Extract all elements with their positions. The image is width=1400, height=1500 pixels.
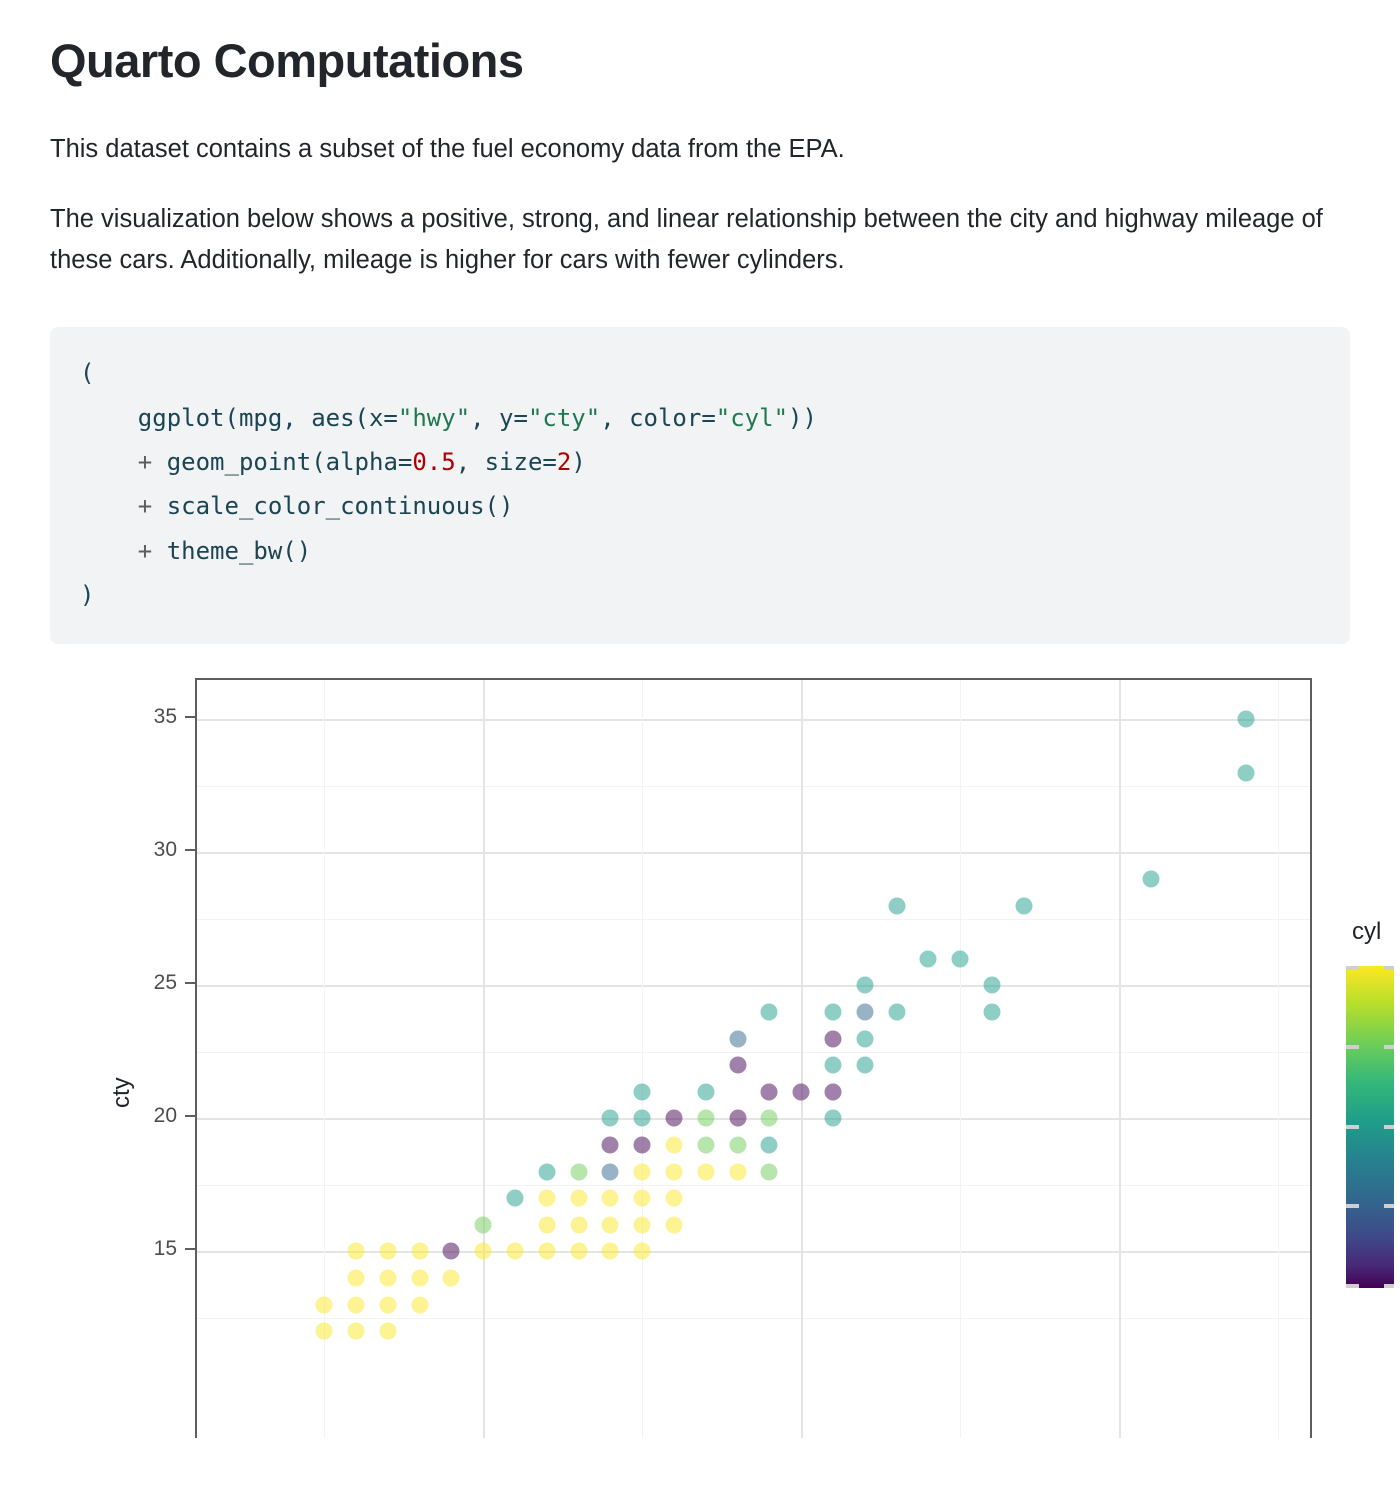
scatter-point <box>1238 711 1255 728</box>
gridline-major-horizontal <box>197 852 1310 854</box>
scatter-point <box>761 1163 778 1180</box>
gridline-major-vertical <box>483 680 485 1438</box>
gridline-major-vertical <box>801 680 803 1438</box>
scatter-point <box>729 1163 746 1180</box>
code-block: ( ggplot(mpg, aes(x="hwy", y="cty", colo… <box>50 327 1350 643</box>
gridline-minor-vertical <box>1278 680 1279 1438</box>
gridline-minor-horizontal <box>197 786 1310 787</box>
code-content[interactable]: ( ggplot(mpg, aes(x="hwy", y="cty", colo… <box>80 351 1320 617</box>
scatter-point <box>952 950 969 967</box>
scatter-point <box>570 1216 587 1233</box>
gridline-major-horizontal <box>197 719 1310 721</box>
scatter-point <box>602 1190 619 1207</box>
gridline-minor-vertical <box>960 680 961 1438</box>
scatter-point <box>856 1030 873 1047</box>
plot-panel <box>195 678 1312 1438</box>
scatter-point <box>602 1216 619 1233</box>
scatter-point <box>1015 897 1032 914</box>
scatter-point <box>697 1163 714 1180</box>
scatter-point <box>666 1137 683 1154</box>
scatter-point <box>666 1190 683 1207</box>
scatter-point <box>761 1110 778 1127</box>
scatter-point <box>316 1323 333 1340</box>
intro-paragraph: This dataset contains a subset of the fu… <box>50 129 1340 170</box>
scatter-point <box>602 1243 619 1260</box>
scatter-point <box>697 1137 714 1154</box>
scatter-point <box>379 1269 396 1286</box>
legend-tick-mark <box>1346 1125 1359 1129</box>
legend-tick-mark <box>1384 1204 1394 1208</box>
scatter-point <box>411 1269 428 1286</box>
y-axis-tick-mark <box>185 1248 195 1250</box>
y-axis-tick-mark <box>185 982 195 984</box>
description-paragraph: The visualization below shows a positive… <box>50 199 1340 282</box>
scatter-point <box>348 1269 365 1286</box>
gridline-minor-horizontal <box>197 919 1310 920</box>
legend-tick-mark <box>1384 966 1394 970</box>
legend-colorbar <box>1346 966 1394 1288</box>
legend-tick-mark <box>1384 1284 1394 1288</box>
legend-tick-mark <box>1384 1125 1394 1129</box>
scatter-point <box>348 1243 365 1260</box>
scatter-point <box>984 977 1001 994</box>
y-axis-tick-mark <box>185 1115 195 1117</box>
scatter-point <box>920 950 937 967</box>
scatter-point <box>729 1057 746 1074</box>
legend-tick-mark <box>1346 1204 1359 1208</box>
gridline-major-horizontal <box>197 1118 1310 1120</box>
scatter-point <box>825 1083 842 1100</box>
scatter-point <box>538 1190 555 1207</box>
scatter-point <box>697 1083 714 1100</box>
scatter-point <box>634 1137 651 1154</box>
scatter-point <box>856 977 873 994</box>
gridline-minor-vertical <box>642 680 643 1438</box>
scatter-point <box>729 1137 746 1154</box>
y-axis-tick-label: 30 <box>154 838 177 862</box>
scatter-point <box>761 1004 778 1021</box>
y-axis-title: cty <box>108 1077 136 1108</box>
scatter-point <box>888 897 905 914</box>
scatter-point <box>475 1243 492 1260</box>
y-axis-tick-label: 20 <box>154 1104 177 1128</box>
scatter-point <box>825 1030 842 1047</box>
scatter-point <box>697 1110 714 1127</box>
legend-tick-mark <box>1346 1284 1359 1288</box>
scatter-point <box>634 1163 651 1180</box>
gridline-minor-horizontal <box>197 1185 1310 1186</box>
scatter-point <box>602 1137 619 1154</box>
scatter-point <box>1238 764 1255 781</box>
legend-tick-mark <box>1384 1045 1394 1049</box>
scatter-point <box>1143 871 1160 888</box>
scatter-point <box>825 1004 842 1021</box>
scatter-point <box>761 1083 778 1100</box>
scatter-point <box>570 1190 587 1207</box>
y-axis-tick-label: 35 <box>154 705 177 729</box>
scatter-point <box>856 1057 873 1074</box>
scatter-point <box>570 1163 587 1180</box>
scatter-point <box>379 1243 396 1260</box>
scatter-point <box>888 1004 905 1021</box>
scatter-point <box>856 1004 873 1021</box>
legend: cyl <box>1340 918 1400 1288</box>
scatter-point <box>507 1243 524 1260</box>
legend-tick-mark <box>1346 1045 1359 1049</box>
scatter-point <box>538 1163 555 1180</box>
scatter-point <box>316 1296 333 1313</box>
y-axis-tick-mark <box>185 849 195 851</box>
scatter-point <box>348 1296 365 1313</box>
gridline-minor-horizontal <box>197 1052 1310 1053</box>
y-axis-tick-mark <box>185 716 195 718</box>
scatter-point <box>634 1216 651 1233</box>
gridline-major-horizontal <box>197 985 1310 987</box>
scatter-point <box>602 1163 619 1180</box>
scatter-point <box>443 1269 460 1286</box>
scatter-point <box>348 1323 365 1340</box>
scatter-point <box>443 1243 460 1260</box>
y-axis-tick-label: 15 <box>154 1237 177 1261</box>
scatter-point <box>538 1216 555 1233</box>
scatter-plot-figure: cty cyl 1520253035 <box>50 678 1350 1438</box>
scatter-point <box>634 1110 651 1127</box>
scatter-point <box>379 1296 396 1313</box>
y-axis-tick-label: 25 <box>154 971 177 995</box>
scatter-point <box>411 1243 428 1260</box>
scatter-point <box>602 1110 619 1127</box>
scatter-point <box>666 1163 683 1180</box>
scatter-point <box>666 1110 683 1127</box>
scatter-point <box>411 1296 428 1313</box>
scatter-point <box>666 1216 683 1233</box>
scatter-point <box>729 1030 746 1047</box>
legend-tick-mark <box>1346 966 1359 970</box>
scatter-point <box>825 1057 842 1074</box>
scatter-point <box>634 1243 651 1260</box>
scatter-point <box>538 1243 555 1260</box>
scatter-point <box>729 1110 746 1127</box>
legend-title: cyl <box>1352 918 1400 946</box>
scatter-point <box>634 1083 651 1100</box>
gridline-minor-horizontal <box>197 1318 1310 1319</box>
scatter-point <box>379 1323 396 1340</box>
scatter-point <box>984 1004 1001 1021</box>
scatter-point <box>507 1190 524 1207</box>
scatter-point <box>634 1190 651 1207</box>
scatter-point <box>793 1083 810 1100</box>
scatter-point <box>475 1216 492 1233</box>
document-page: Quarto Computations This dataset contain… <box>0 0 1400 1500</box>
scatter-point <box>761 1137 778 1154</box>
scatter-point <box>570 1243 587 1260</box>
scatter-point <box>825 1110 842 1127</box>
gridline-major-vertical <box>1119 680 1121 1438</box>
page-title: Quarto Computations <box>50 0 1350 89</box>
